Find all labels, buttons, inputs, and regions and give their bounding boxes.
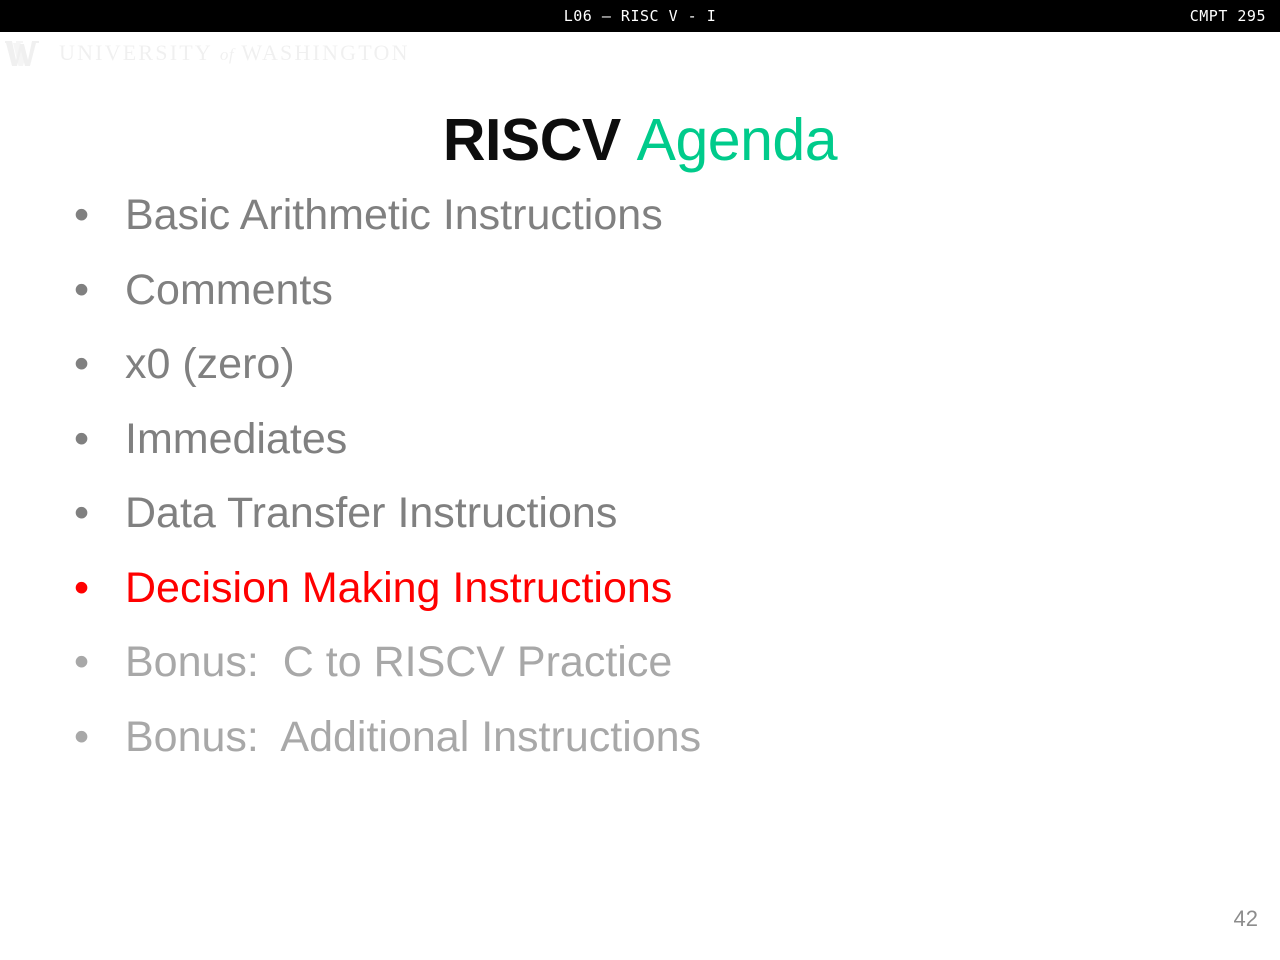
- bullet-point-icon: •: [74, 551, 125, 626]
- bullet-point-icon: •: [74, 625, 125, 700]
- agenda-item-label: Immediates: [125, 402, 347, 477]
- page-title: RISCV Agenda: [0, 102, 1280, 178]
- uw-w-monogram-icon: [4, 38, 50, 68]
- agenda-item[interactable]: •Basic Arithmetic Instructions: [74, 178, 1204, 253]
- agenda-item-label: Data Transfer Instructions: [125, 476, 617, 551]
- agenda-item[interactable]: •x0 (zero): [74, 327, 1204, 402]
- agenda-item-label: Decision Making Instructions: [125, 551, 672, 626]
- bullet-point-icon: •: [74, 253, 125, 328]
- bullet-point-icon: •: [74, 327, 125, 402]
- slide-header-bar: L06 — RISC V - I CMPT 295: [0, 0, 1280, 32]
- agenda-item-label: Comments: [125, 253, 333, 328]
- page-title-accent: Agenda: [637, 107, 837, 173]
- bullet-point-icon: •: [74, 700, 125, 775]
- agenda-item[interactable]: •Bonus: C to RISCV Practice: [74, 625, 1204, 700]
- university-watermark: UNIVERSITY of WASHINGTON: [4, 36, 410, 70]
- agenda-item-label: Bonus: C to RISCV Practice: [125, 625, 672, 700]
- agenda-item[interactable]: •Comments: [74, 253, 1204, 328]
- page-title-primary: RISCV: [443, 107, 637, 173]
- bullet-point-icon: •: [74, 476, 125, 551]
- watermark-washington-word: WASHINGTON: [234, 40, 410, 65]
- slide-page-number: 42: [1234, 906, 1258, 932]
- agenda-item[interactable]: •Immediates: [74, 402, 1204, 477]
- agenda-item-label: x0 (zero): [125, 327, 295, 402]
- agenda-item-label: Bonus: Additional Instructions: [125, 700, 701, 775]
- bullet-point-icon: •: [74, 402, 125, 477]
- course-code: CMPT 295: [1190, 0, 1266, 32]
- agenda-item[interactable]: •Data Transfer Instructions: [74, 476, 1204, 551]
- watermark-institution-text: UNIVERSITY of WASHINGTON: [59, 40, 410, 66]
- agenda-item-label: Basic Arithmetic Instructions: [125, 178, 663, 253]
- bullet-point-icon: •: [74, 178, 125, 253]
- agenda-item[interactable]: •Bonus: Additional Instructions: [74, 700, 1204, 775]
- lecture-title: L06 — RISC V - I: [0, 0, 1280, 32]
- watermark-university-word: UNIVERSITY: [59, 40, 220, 65]
- agenda-item[interactable]: •Decision Making Instructions: [74, 551, 1204, 626]
- agenda-list: •Basic Arithmetic Instructions•Comments•…: [74, 178, 1204, 774]
- watermark-of-word: of: [220, 45, 234, 64]
